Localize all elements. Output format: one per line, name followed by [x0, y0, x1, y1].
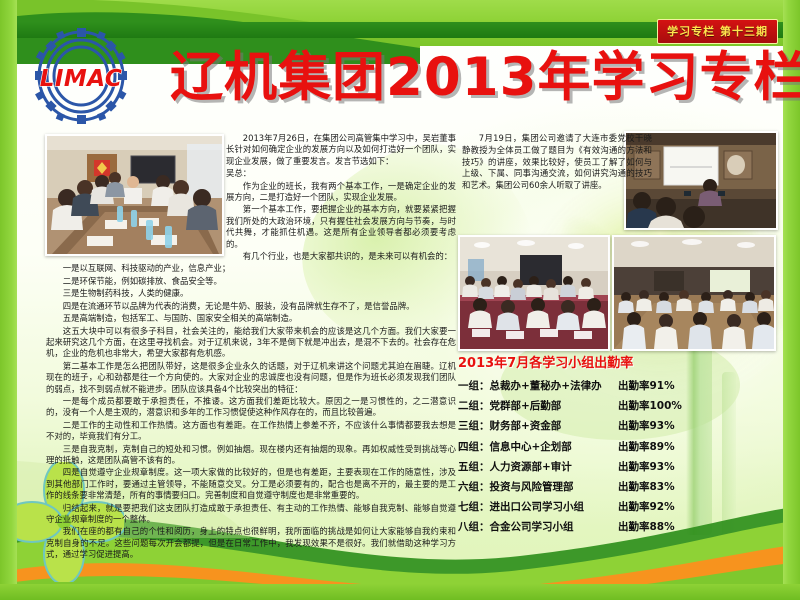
attendance-list: 一组：总裁办+董秘办+法律办 出勤率91% 二组：党群部+后勤部 出勤率100%… [458, 378, 788, 534]
paragraph: 7月19日，集团公司邀请了大连市委党校干晓静教授为全体员工做了题目为《有效沟通的… [462, 133, 652, 192]
paragraph: 2013年7月26日，在集团公司高管集中学习中，吴岩董事长针对如何确定企业的发展… [226, 133, 456, 167]
paragraph: 第二基本工作是怎么把团队带好，这是很多企业永久的话题，对于辽机来讲这个问题尤其迫… [46, 361, 456, 395]
paragraph: 一是以互联网、科技驱动的产业，信息产业； [46, 263, 456, 274]
attendance-group: 六组：投资与风险管理部 [458, 479, 618, 494]
paragraph: 四是在流通环节以品牌为代表的消费，无论是牛奶、服装，没有品牌就生存不了，是信誉品… [46, 301, 456, 312]
attendance-row: 六组：投资与风险管理部 出勤率83% [458, 479, 788, 494]
paragraph: 四是自觉遵守企业规章制度。这一项大家做的比较好的，但是也有差距，主要表现在工作的… [46, 467, 456, 501]
attendance-section: 2013年7月各学习小组出勤率 一组：总裁办+董秘办+法律办 出勤率91% 二组… [458, 352, 788, 540]
attendance-row: 四组：信息中心+企划部 出勤率89% [458, 439, 788, 454]
paragraph: 三是自我克制，克制自己的短处和习惯。例如抽烟。现在楼内还有抽烟的现象。再如权威性… [46, 444, 456, 467]
paragraph: 五是高端制造，包括军工、与国防、国家安全相关的高端制造。 [46, 313, 456, 324]
attendance-group: 五组：人力资源部+审计 [458, 459, 618, 474]
frame-left-border [0, 0, 17, 600]
paragraph: 我们在座的都有自己的个性和阅历，身上的特点也很鲜明，我所面临的挑战是如何让大家能… [46, 526, 456, 560]
attendance-rate: 出勤率83% [618, 479, 675, 494]
attendance-rate: 出勤率100% [618, 398, 682, 413]
right-article-column: 7月19日，集团公司邀请了大连市委党校干晓静教授为全体员工做了题目为《有效沟通的… [462, 133, 652, 193]
left-article-column: 2013年7月26日，在集团公司高管集中学习中，吴岩董事长针对如何确定企业的发展… [46, 133, 456, 562]
attendance-rate: 出勤率93% [618, 459, 675, 474]
page-title: 辽机集团2013年学习专栏 [170, 42, 730, 114]
audience-seated-photo [458, 235, 610, 351]
attendance-group: 七组：进出口公司学习小组 [458, 499, 618, 514]
attendance-title: 2013年7月各学习小组出勤率 [458, 352, 788, 371]
paragraph: 一是每个成员都要敢于承担责任，不推诿。这方面我们差距比较大。原因之一是习惯性的，… [46, 396, 456, 419]
attendance-rate: 出勤率88% [618, 519, 675, 534]
attendance-row: 三组：财务部+资金部 出勤率93% [458, 418, 788, 433]
paragraph: 这五大块中可以有很多子科目，社会关注的，能给我们大家带来机会的应该是这几个方面。… [46, 326, 456, 360]
paragraph: 归结起来，就是要把我们这支团队打造成敢于承担责任、有主动的工作热情、能够自我克制… [46, 503, 456, 526]
attendance-row: 一组：总裁办+董秘办+法律办 出勤率91% [458, 378, 788, 393]
audience-hall-photo [612, 235, 776, 351]
paragraph: 二是环保节能，例如碳排放、食品安全等。 [46, 276, 456, 287]
paragraph: 第一个基本工作，要把握企业的基本方向，就要紧紧把握我们所处的大政治环境，只有握住… [226, 204, 456, 250]
attendance-rate: 出勤率93% [618, 418, 675, 433]
paragraph: 二是工作的主动性和工作热情。这方面也有差距。在工作热情上参差不齐，不应该什么事情… [46, 420, 456, 443]
attendance-rate: 出勤率91% [618, 378, 675, 393]
attendance-row: 二组：党群部+后勤部 出勤率100% [458, 398, 788, 413]
limac-logo: LIMAC [27, 28, 135, 124]
attendance-group: 四组：信息中心+企划部 [458, 439, 618, 454]
attendance-group: 一组：总裁办+董秘办+法律办 [458, 378, 618, 393]
attendance-group: 八组：合金公司学习小组 [458, 519, 618, 534]
attendance-rate: 出勤率89% [618, 439, 675, 454]
poster-page: 学习专栏 第十三期 [0, 0, 800, 600]
paragraph: 有几个行业，也是大家都共识的，是未来可以有机会的： [226, 251, 456, 262]
limac-logo-text: LIMAC [40, 66, 123, 92]
right-article-text: 7月19日，集团公司邀请了大连市委党校干晓静教授为全体员工做了题目为《有效沟通的… [462, 133, 652, 192]
attendance-group: 二组：党群部+后勤部 [458, 398, 618, 413]
attendance-row: 五组：人力资源部+审计 出勤率93% [458, 459, 788, 474]
attendance-row: 七组：进出口公司学习小组 出勤率92% [458, 499, 788, 514]
frame-bottom-border [0, 584, 800, 600]
paragraph: 吴总： [226, 168, 456, 179]
paragraph: 作为企业的班长，我有两个基本工作，一是确定企业的发展方向，二是打造好一个团队，实… [226, 181, 456, 204]
attendance-rate: 出勤率92% [618, 499, 675, 514]
attendance-row: 八组：合金公司学习小组 出勤率88% [458, 519, 788, 534]
issue-badge: 学习专栏 第十三期 [657, 19, 778, 44]
attendance-group: 三组：财务部+资金部 [458, 418, 618, 433]
left-article-text: 2013年7月26日，在集团公司高管集中学习中，吴岩董事长针对如何确定企业的发展… [46, 133, 456, 561]
paragraph: 三是生物制药科技，人类的健康。 [46, 288, 456, 299]
left-article-wrap-region: 2013年7月26日，在集团公司高管集中学习中，吴岩董事长针对如何确定企业的发展… [226, 133, 456, 262]
